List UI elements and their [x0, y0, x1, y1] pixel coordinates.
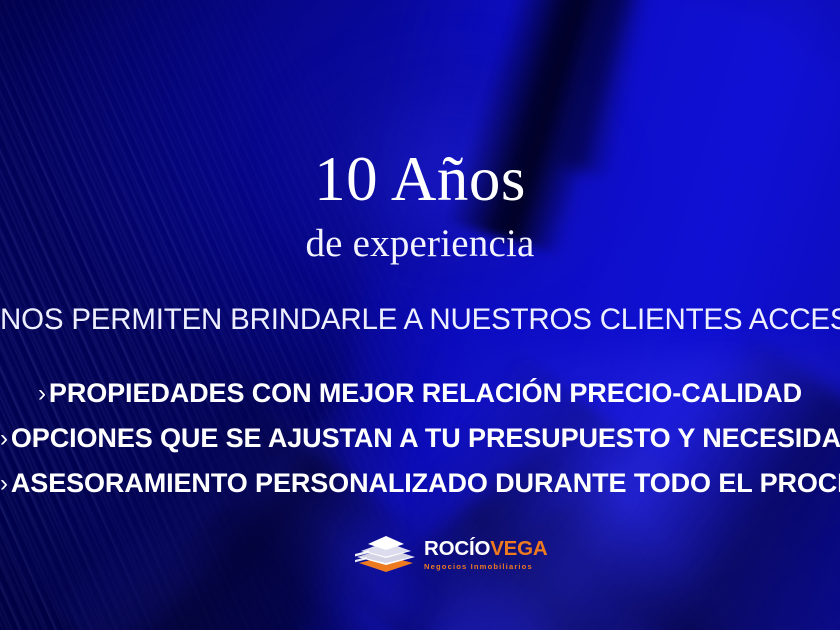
brand-logo: ROCÍOVEGA Negocios Inmobiliarios	[355, 528, 523, 580]
chevron-right-icon: ›	[38, 380, 49, 407]
brand-name-primary: ROCÍO	[424, 537, 490, 560]
benefit-item-label: ASESORAMIENTO PERSONALIZADO DURANTE TODO…	[11, 468, 840, 498]
benefit-item-label: OPCIONES QUE SE AJUSTAN A TU PRESUPUESTO…	[11, 423, 840, 453]
headline-block: 10 Años de experiencia	[0, 148, 840, 263]
brand-name-accent: VEGA	[490, 537, 547, 560]
benefit-list: ›PROPIEDADES CON MEJOR RELACIÓN PRECIO-C…	[0, 378, 840, 513]
brand-wordmark: ROCÍOVEGA Negocios Inmobiliarios	[424, 537, 548, 572]
brand-name: ROCÍOVEGA	[424, 539, 548, 560]
lead-statement: NOS PERMITEN BRINDARLE A NUESTROS CLIENT…	[0, 303, 840, 337]
benefit-item-label: PROPIEDADES CON MEJOR RELACIÓN PRECIO-CA…	[49, 378, 802, 408]
roof-layers-icon	[355, 532, 417, 576]
benefit-item: ›OPCIONES QUE SE AJUSTAN A TU PRESUPUEST…	[0, 423, 840, 468]
chevron-right-icon: ›	[0, 470, 11, 497]
headline-years: 10 Años	[0, 148, 840, 211]
benefit-item: ›ASESORAMIENTO PERSONALIZADO DURANTE TOD…	[0, 468, 840, 513]
benefit-item: ›PROPIEDADES CON MEJOR RELACIÓN PRECIO-C…	[0, 378, 840, 423]
headline-subtitle: de experiencia	[0, 224, 840, 263]
slide-content: 10 Años de experiencia NOS PERMITEN BRIN…	[0, 0, 840, 630]
brand-tagline: Negocios Inmobiliarios	[424, 562, 548, 571]
chevron-right-icon: ›	[0, 425, 11, 452]
promo-slide: 10 Años de experiencia NOS PERMITEN BRIN…	[0, 0, 840, 630]
